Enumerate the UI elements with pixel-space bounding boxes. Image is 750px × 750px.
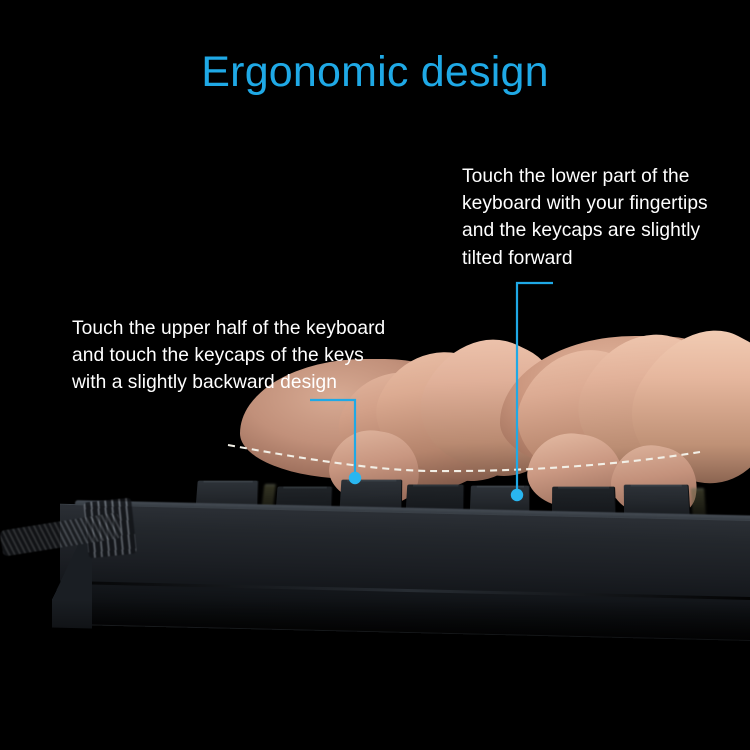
page-title: Ergonomic design [0,49,750,95]
screenshot-canvas: Ergonomic design Touch the lower part of… [0,0,750,750]
keyboard-bottom-shadow [0,600,750,720]
annotation-upper-half: Touch the upper half of the keyboard and… [72,315,412,397]
annotation-lower-part: Touch the lower part of the keyboard wit… [462,163,750,272]
